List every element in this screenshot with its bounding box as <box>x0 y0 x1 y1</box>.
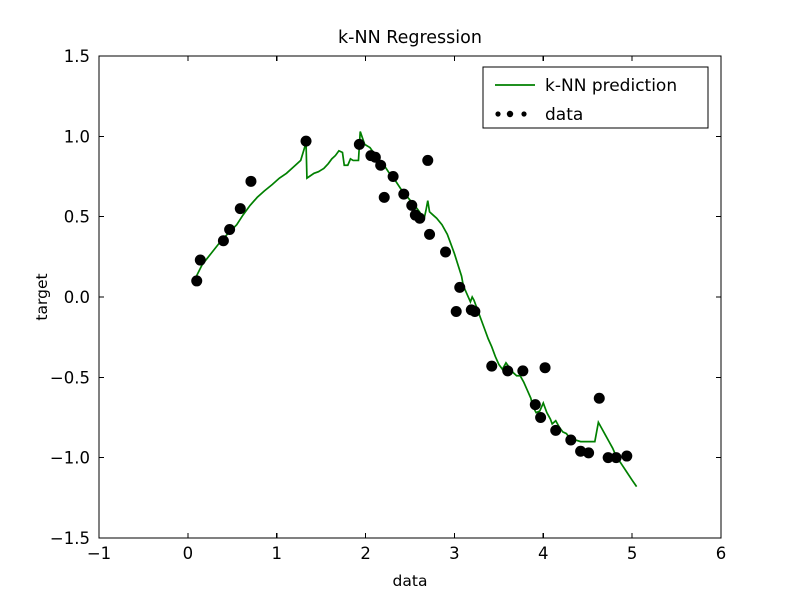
y-tick-label: 0.0 <box>64 288 90 307</box>
data-point <box>301 136 312 147</box>
x-tick-label: 0 <box>183 544 194 563</box>
y-tick-label: −1.0 <box>50 449 90 468</box>
data-point <box>406 200 417 211</box>
x-axis-label: data <box>393 572 428 590</box>
data-point <box>379 192 390 203</box>
data-point <box>621 451 632 462</box>
data-point <box>535 412 546 423</box>
legend-dot-swatch-1 <box>495 111 500 116</box>
data-point <box>565 434 576 445</box>
data-point <box>414 213 425 224</box>
data-point <box>502 365 513 376</box>
data-point <box>424 229 435 240</box>
prediction-line <box>194 132 637 487</box>
figure-canvas: −10123456−1.5−1.0−0.50.00.51.01.5k-NN Re… <box>0 0 800 600</box>
y-tick-label: −0.5 <box>50 368 90 387</box>
legend-label-prediction: k-NN prediction <box>545 76 677 96</box>
y-axis-label: target <box>33 273 51 320</box>
data-point <box>235 203 246 214</box>
data-point <box>375 160 386 171</box>
x-tick-label: 5 <box>627 544 638 563</box>
data-point <box>550 425 561 436</box>
data-points-group <box>191 136 632 464</box>
data-point <box>486 361 497 372</box>
data-point <box>388 171 399 182</box>
data-point <box>517 365 528 376</box>
data-point <box>245 176 256 187</box>
data-point <box>469 306 480 317</box>
legend-label-data: data <box>545 105 583 125</box>
y-tick-label: 1.0 <box>64 127 90 146</box>
data-point <box>354 139 365 150</box>
data-point <box>218 235 229 246</box>
x-tick-label: 3 <box>449 544 460 563</box>
x-tick-label: −1 <box>87 544 111 563</box>
x-tick-label: 4 <box>538 544 549 563</box>
x-tick-label: 1 <box>271 544 282 563</box>
data-point <box>540 362 551 373</box>
x-tick-label: 6 <box>716 544 727 563</box>
data-point <box>583 447 594 458</box>
chart-title: k-NN Regression <box>338 28 482 48</box>
data-point <box>191 275 202 286</box>
legend-dot-swatch-2 <box>507 111 513 117</box>
data-point <box>398 189 409 200</box>
y-tick-label: −1.5 <box>50 529 90 548</box>
data-point <box>195 255 206 266</box>
legend-dot-swatch-3 <box>521 111 526 116</box>
data-point <box>440 247 451 258</box>
y-tick-label: 0.5 <box>64 208 90 227</box>
knn-regression-chart: −10123456−1.5−1.0−0.50.00.51.01.5k-NN Re… <box>0 0 800 600</box>
y-tick-label: 1.5 <box>64 47 90 66</box>
data-point <box>611 452 622 463</box>
data-point <box>451 306 462 317</box>
data-point <box>594 393 605 404</box>
data-point <box>422 155 433 166</box>
x-tick-label: 2 <box>360 544 371 563</box>
data-point <box>224 224 235 235</box>
data-point <box>530 399 541 410</box>
data-point <box>454 282 465 293</box>
